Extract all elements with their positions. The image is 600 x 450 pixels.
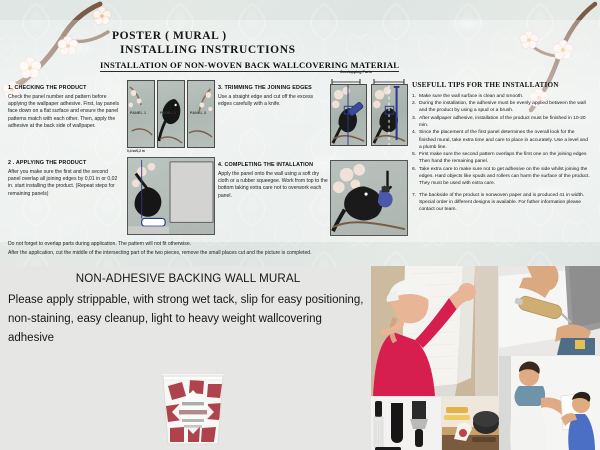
panel-2-image: PANEL 2 — [157, 80, 185, 148]
step-4-body: Apply the panel onto the wall using a so… — [218, 171, 330, 201]
overlap-image-right — [371, 84, 408, 146]
panel-1-image: PANEL 1 — [127, 80, 155, 148]
useful-tips-block: USEFULL TIPS FOR THE INSTALLATION 1. Mak… — [412, 81, 592, 214]
tip-text: The backside of the product is nonwoven … — [419, 192, 592, 213]
tip-number: 7. — [412, 192, 419, 213]
tip-item: 7. The backside of the product is nonwov… — [412, 192, 592, 213]
lower-paragraph: Please apply strippable, with strong wet… — [8, 291, 368, 348]
lower-text-block: NON-ADHESIVE BACKING WALL MURAL Please a… — [8, 272, 368, 348]
overlap-image-left — [330, 84, 367, 146]
note-line-2: After the application, cut the middle of… — [8, 249, 312, 258]
step-3-heading: 3. TRIMMING THE JOINING EDGES — [218, 85, 328, 91]
step-1-checking-the-product: 1. CHECKING THE PRODUCT Check the panel … — [8, 85, 120, 131]
tip-number: 6. — [412, 166, 419, 187]
three-panels-diagram: PANEL 1 PANEL 2 PANEL 3 — [127, 80, 215, 148]
tip-number: 2. — [412, 100, 419, 114]
tip-number: 1. — [412, 93, 419, 100]
photo-scraper-tools — [371, 397, 441, 450]
tip-item: 5. First make sure the second pattern ov… — [412, 151, 592, 165]
tip-number: 3. — [412, 115, 419, 129]
overlapping-parts-label: Overlapping Parts — [340, 70, 372, 74]
tip-item: 4. Since the placement of the first pane… — [412, 129, 592, 150]
photo-tools-row — [371, 397, 498, 450]
step-2-applying-the-product: 2 . APPLYING THE PRODUCT After you make … — [8, 160, 120, 198]
overlapping-parts-diagram: Overlapping Parts — [330, 78, 408, 148]
photo-collage — [371, 266, 600, 450]
panel-3-label: PANEL 3 — [190, 111, 206, 115]
step-2-heading: 2 . APPLYING THE PRODUCT — [8, 160, 120, 166]
step-3-trimming-the-joining-edges: 3. TRIMMING THE JOINING EDGES Use a stra… — [218, 85, 328, 108]
page-subtitle: INSTALLING INSTRUCTIONS — [120, 43, 296, 57]
instruction-sheet-panel: POSTER ( MURAL ) INSTALLING INSTRUCTIONS… — [0, 0, 600, 266]
tip-number: 4. — [412, 129, 419, 150]
step-3-body: Use a straight edge and cut off the exce… — [218, 94, 328, 109]
lower-heading: NON-ADHESIVE BACKING WALL MURAL — [8, 272, 368, 285]
photo-woman-hanging-wallpaper — [371, 266, 498, 396]
step-4-completing-the-installation: 4. COMPLETING THE INTALLATION Apply the … — [218, 162, 330, 200]
panel-1-label: PANEL 1 — [130, 111, 146, 115]
tip-text: Since the placement of the first panel d… — [419, 129, 592, 150]
note-line-1: Do not forget to overlap parts during ap… — [8, 240, 312, 249]
tip-item: 1. Make sure the wall surface is clean a… — [412, 93, 592, 100]
step-1-heading: 1. CHECKING THE PRODUCT — [8, 85, 120, 91]
tip-number: 5. — [412, 151, 419, 165]
page-title: POSTER ( MURAL ) — [112, 29, 296, 43]
tip-text: Take extra care to make sure not to get … — [419, 166, 592, 187]
photo-right-column — [499, 266, 600, 450]
tip-text: Make sure the wall surface is clean and … — [419, 93, 592, 100]
title-block: POSTER ( MURAL ) INSTALLING INSTRUCTIONS — [112, 29, 296, 57]
panel-scale-label: 0,4 in/0,2 in — [127, 149, 171, 153]
step-2-body: After you make sure the first and the se… — [8, 169, 120, 199]
overlap-notes: Do not forget to overlap parts during ap… — [8, 240, 312, 258]
photo-man-and-child-hanging — [499, 356, 600, 450]
tip-text: After wallpaper adhesive, installation o… — [419, 115, 592, 129]
poster-instruction-sheet: POSTER ( MURAL ) INSTALLING INSTRUCTIONS… — [0, 0, 600, 450]
tips-heading: USEFULL TIPS FOR THE INSTALLATION — [412, 81, 592, 89]
tip-item: 6. Take extra care to make sure not to g… — [412, 166, 592, 187]
photo-applying-paste-roller — [499, 266, 600, 355]
tip-item: 2. During the installation, the adhesive… — [412, 100, 592, 114]
photo-supplies-table — [442, 397, 499, 450]
applying-product-diagram — [127, 157, 215, 235]
step-4-heading: 4. COMPLETING THE INTALLATION — [218, 162, 330, 168]
panel-3-image: PANEL 3 — [187, 80, 215, 148]
tip-text: During the installation, the adhesive mu… — [419, 100, 592, 114]
completing-installation-diagram — [330, 160, 408, 236]
adhesive-bucket-image — [156, 372, 230, 446]
step-1-body: Check the panel number and pattern befor… — [8, 94, 120, 131]
panel-2-label: PANEL 2 — [160, 111, 176, 115]
tip-item: 3. After wallpaper adhesive, installatio… — [412, 115, 592, 129]
tip-text: First make sure the second pattern overl… — [419, 151, 592, 165]
lower-info-section: NON-ADHESIVE BACKING WALL MURAL Please a… — [0, 266, 600, 450]
